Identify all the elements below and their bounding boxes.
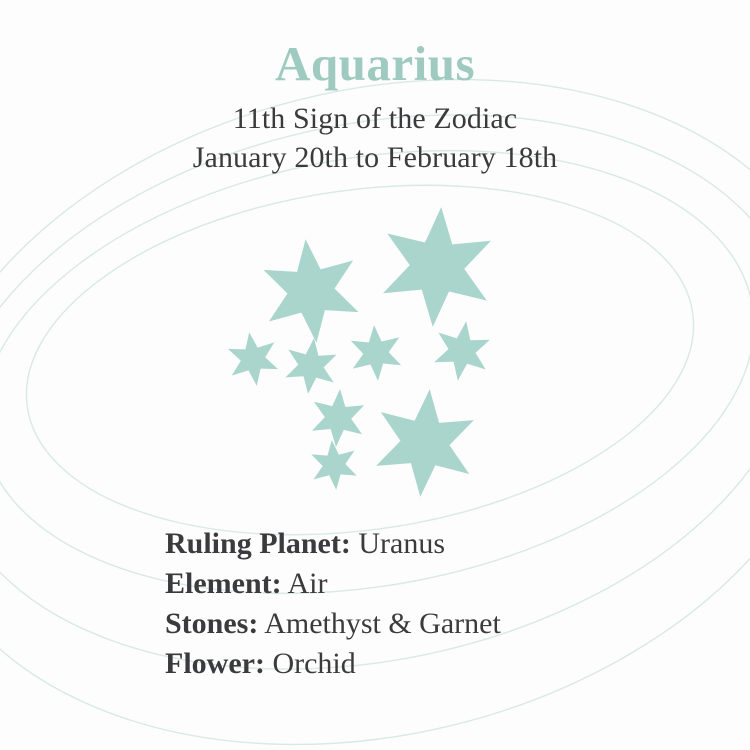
attribute-row: Ruling Planet: Uranus [165,524,685,564]
attribute-row: Element: Air [165,564,685,604]
subtitle-zodiac-order: 11th Sign of the Zodiac [0,89,750,138]
six-pointed-star-icon [228,332,278,385]
attribute-label: Ruling Planet: [165,527,351,560]
attribute-label: Stones: [165,607,258,640]
attribute-list: Ruling Planet: UranusElement: AirStones:… [165,524,685,684]
attribute-row: Stones: Amethyst & Garnet [165,604,685,644]
attribute-row: Flower: Orchid [165,644,685,684]
six-pointed-star-icon [311,440,356,490]
attribute-value: Amethyst & Garnet [258,607,500,640]
card-header: Aquarius 11th Sign of the Zodiac January… [0,0,750,177]
six-pointed-star-icon [312,389,364,447]
attribute-value: Orchid [265,647,356,680]
six-pointed-star-icon [264,239,359,342]
six-pointed-star-icon [383,207,491,327]
page-title: Aquarius [0,0,750,89]
six-pointed-star-icon [376,389,474,497]
attribute-value: Air [282,567,328,600]
orbit-ellipse [4,145,717,575]
attribute-value: Uranus [351,527,445,560]
six-pointed-star-icon [434,321,490,380]
attribute-label: Element: [165,567,282,600]
zodiac-card: Aquarius 11th Sign of the Zodiac January… [0,0,750,750]
six-pointed-star-icon [285,338,336,394]
attribute-label: Flower: [165,647,265,680]
subtitle-date-range: January 20th to February 18th [0,139,750,177]
six-pointed-star-icon [351,325,401,381]
